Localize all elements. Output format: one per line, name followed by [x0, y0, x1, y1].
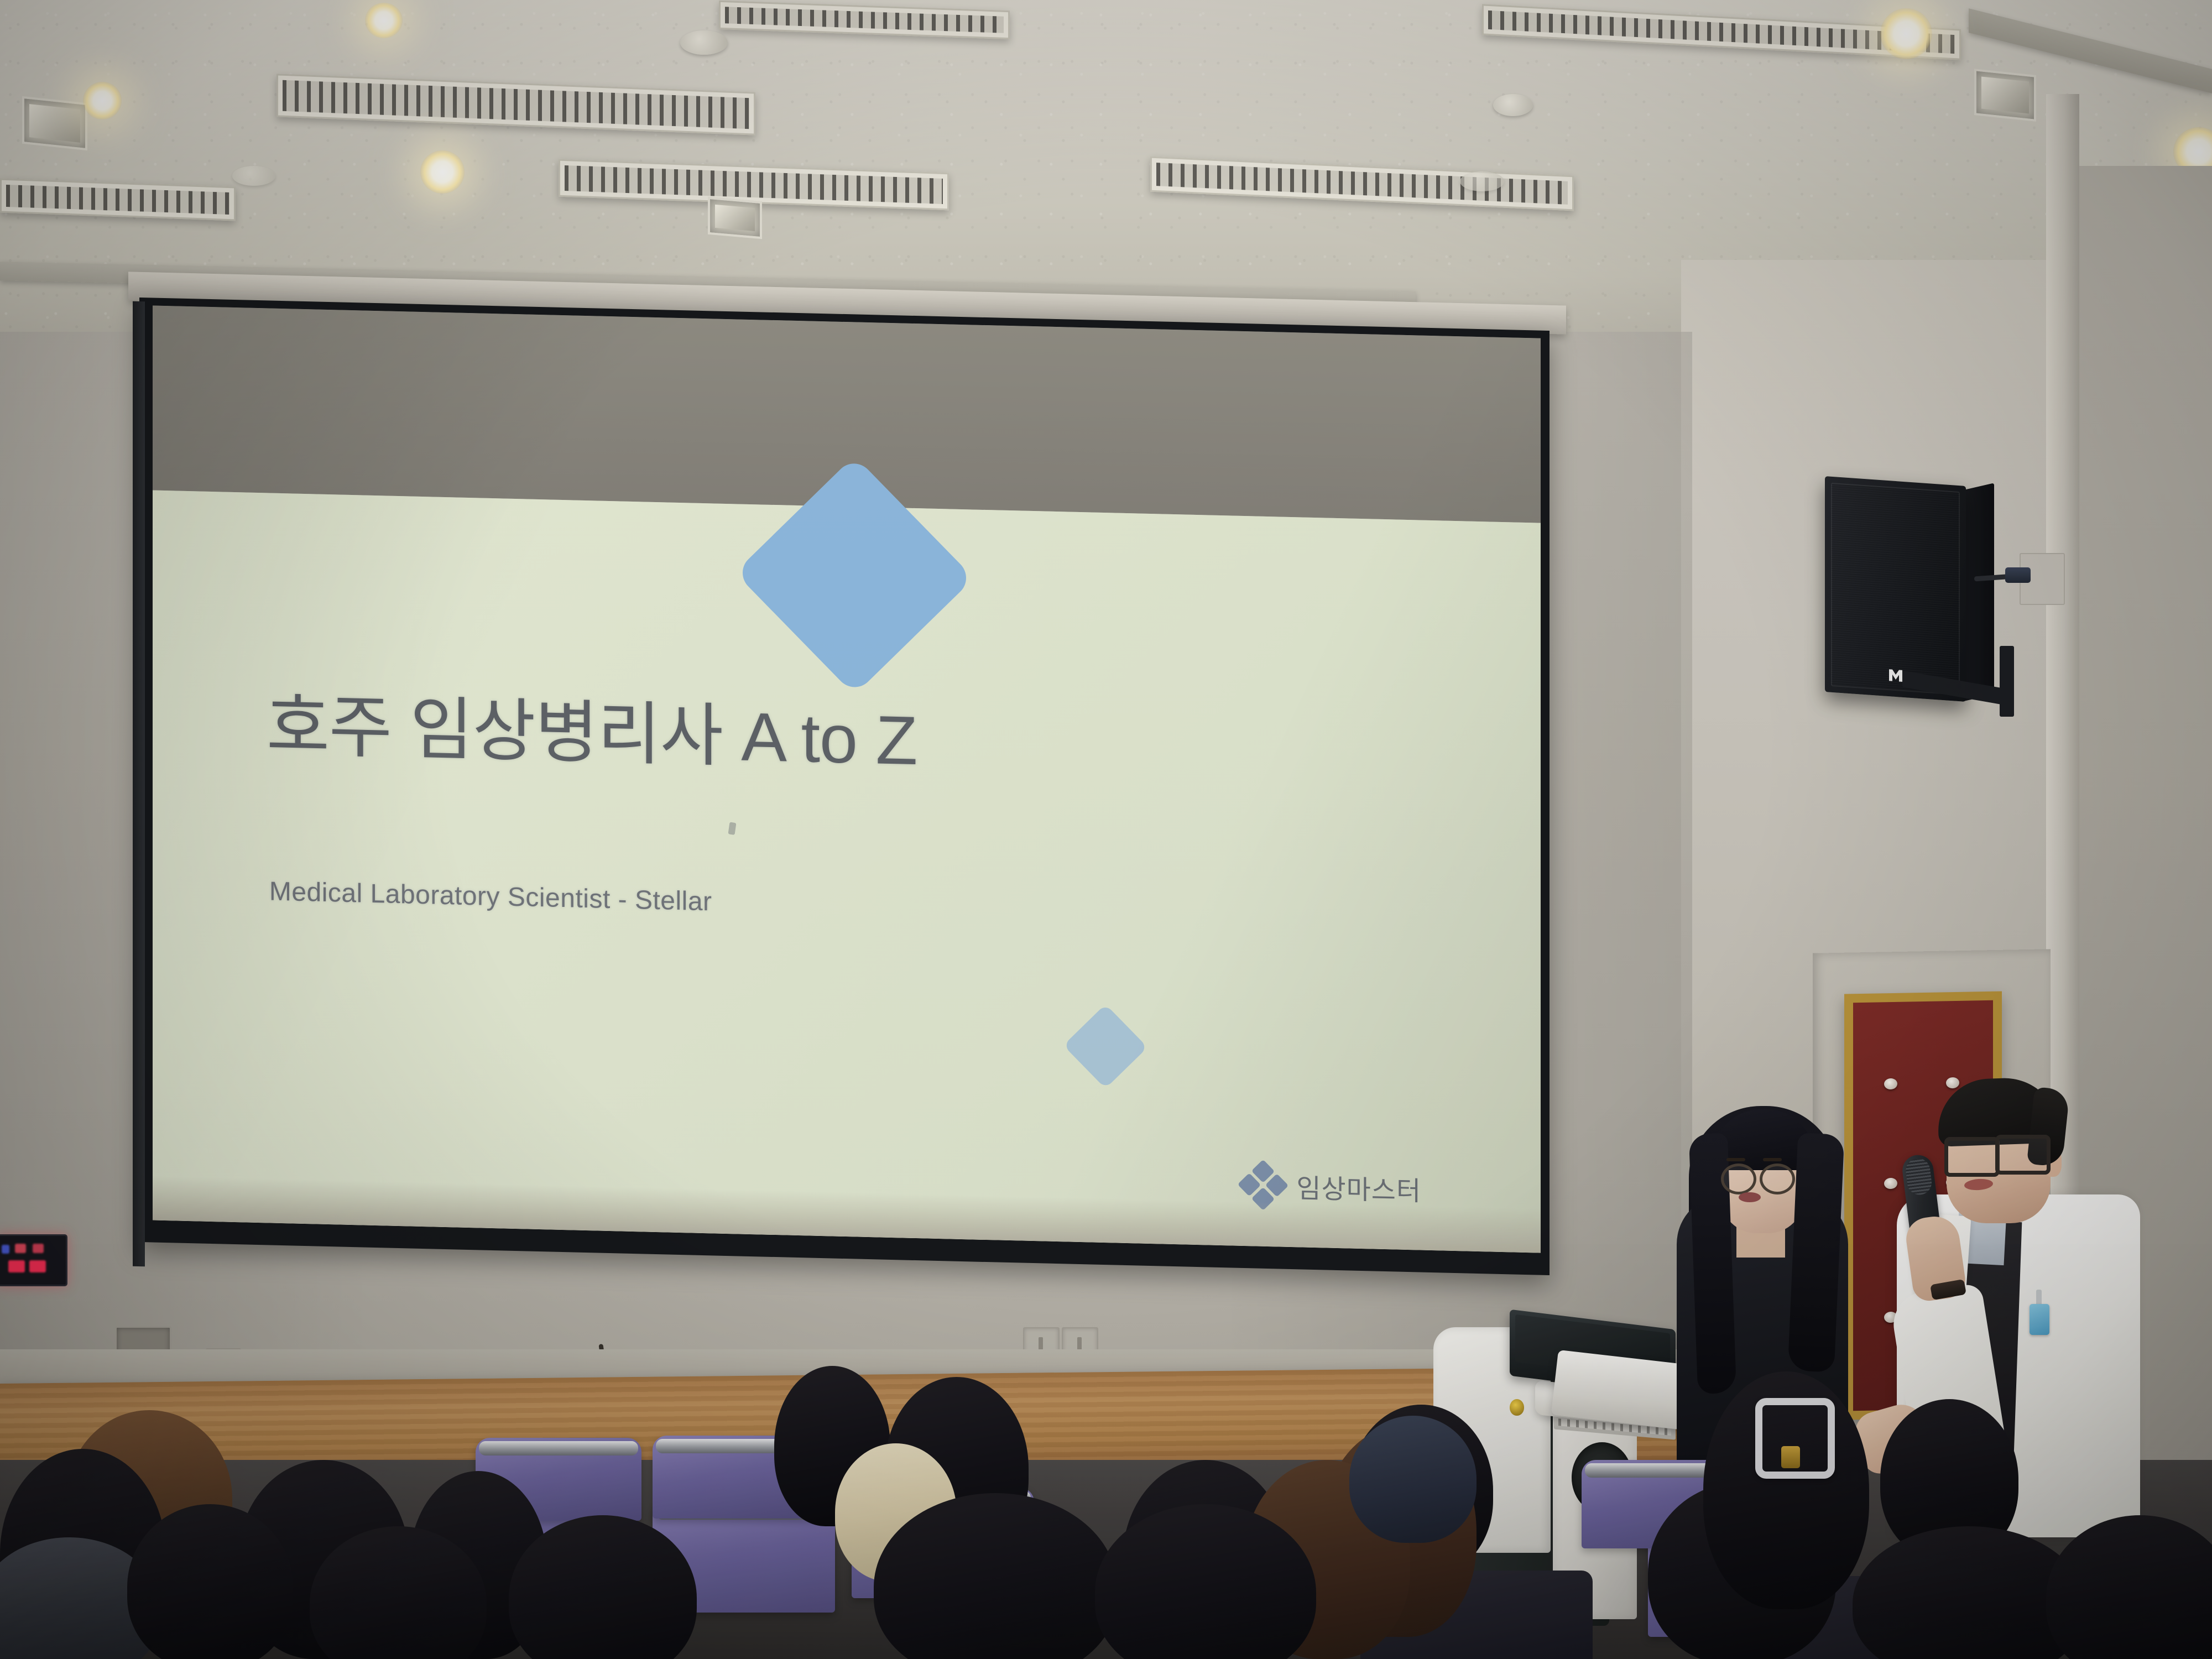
seat-rail	[479, 1441, 638, 1455]
speaker-cable-plug	[2005, 567, 2031, 583]
ceiling-sprinkler-head	[232, 166, 275, 186]
recessed-square-light	[708, 197, 762, 239]
audience-cap-navy	[1349, 1416, 1477, 1543]
presenter-woman-mouth	[1739, 1192, 1761, 1202]
brand-name: 임상마스터	[1296, 1167, 1421, 1208]
brand-diamond-icon	[1242, 1164, 1284, 1207]
led-status-display	[0, 1234, 67, 1286]
presenter-woman-eyeglasses-icon	[1760, 1164, 1795, 1194]
presenter-woman-brow	[1763, 1158, 1782, 1161]
pa-speaker-bracket-arm	[2000, 646, 2014, 717]
projection-screen-surface: 호주 임상병리사 A to Z Medical Laboratory Scien…	[153, 306, 1541, 1253]
pa-speaker-grille	[1831, 483, 1960, 695]
slide-title: 호주 임상병리사 A to Z	[267, 690, 917, 778]
lecture-hall-photo: 호주 임상병리사 A to Z Medical Laboratory Scien…	[0, 0, 2212, 1659]
projection-screen: 호주 임상병리사 A to Z Medical Laboratory Scien…	[139, 298, 1550, 1275]
audience-head	[127, 1504, 293, 1659]
pa-speaker-logo-icon	[1887, 667, 1904, 683]
pa-speaker-side	[1962, 483, 1994, 701]
panel-stud	[1884, 1078, 1897, 1089]
presenter-woman-eyeglasses-icon	[1721, 1164, 1756, 1194]
panel-stud	[1884, 1178, 1897, 1189]
presenter-man-eyeglasses-icon	[1995, 1135, 2051, 1175]
presenter-woman-brow	[1726, 1158, 1745, 1161]
ceiling-sprinkler-head	[1460, 171, 1504, 191]
pa-speaker	[1825, 476, 1966, 702]
ceiling-sprinkler-head	[1493, 94, 1533, 116]
panel-stud	[1946, 1077, 1959, 1088]
recessed-downlight	[1880, 8, 1932, 59]
recessed-downlight	[365, 3, 403, 38]
slide: 호주 임상병리사 A to Z Medical Laboratory Scien…	[153, 491, 1541, 1253]
recessed-square-light	[1974, 69, 2036, 122]
projection-screen-left-rail	[133, 301, 145, 1266]
ceiling-sprinkler-head	[680, 30, 728, 55]
slide-subtitle: Medical Laboratory Scientist - Stellar	[269, 877, 712, 917]
diamond-small-icon	[1063, 1004, 1148, 1089]
presenter-man-eyeglasses-icon	[1944, 1137, 2000, 1177]
recessed-downlight	[83, 82, 122, 119]
hair-clip	[1755, 1398, 1835, 1479]
recessed-downlight	[420, 150, 465, 194]
slide-brand: 임상마스터	[1242, 1164, 1421, 1210]
presenter-man-id-badge	[2030, 1304, 2049, 1335]
recessed-square-light	[22, 96, 87, 150]
lectern-emblem-icon	[1510, 1399, 1524, 1416]
slide-artifact-speck	[728, 822, 736, 835]
